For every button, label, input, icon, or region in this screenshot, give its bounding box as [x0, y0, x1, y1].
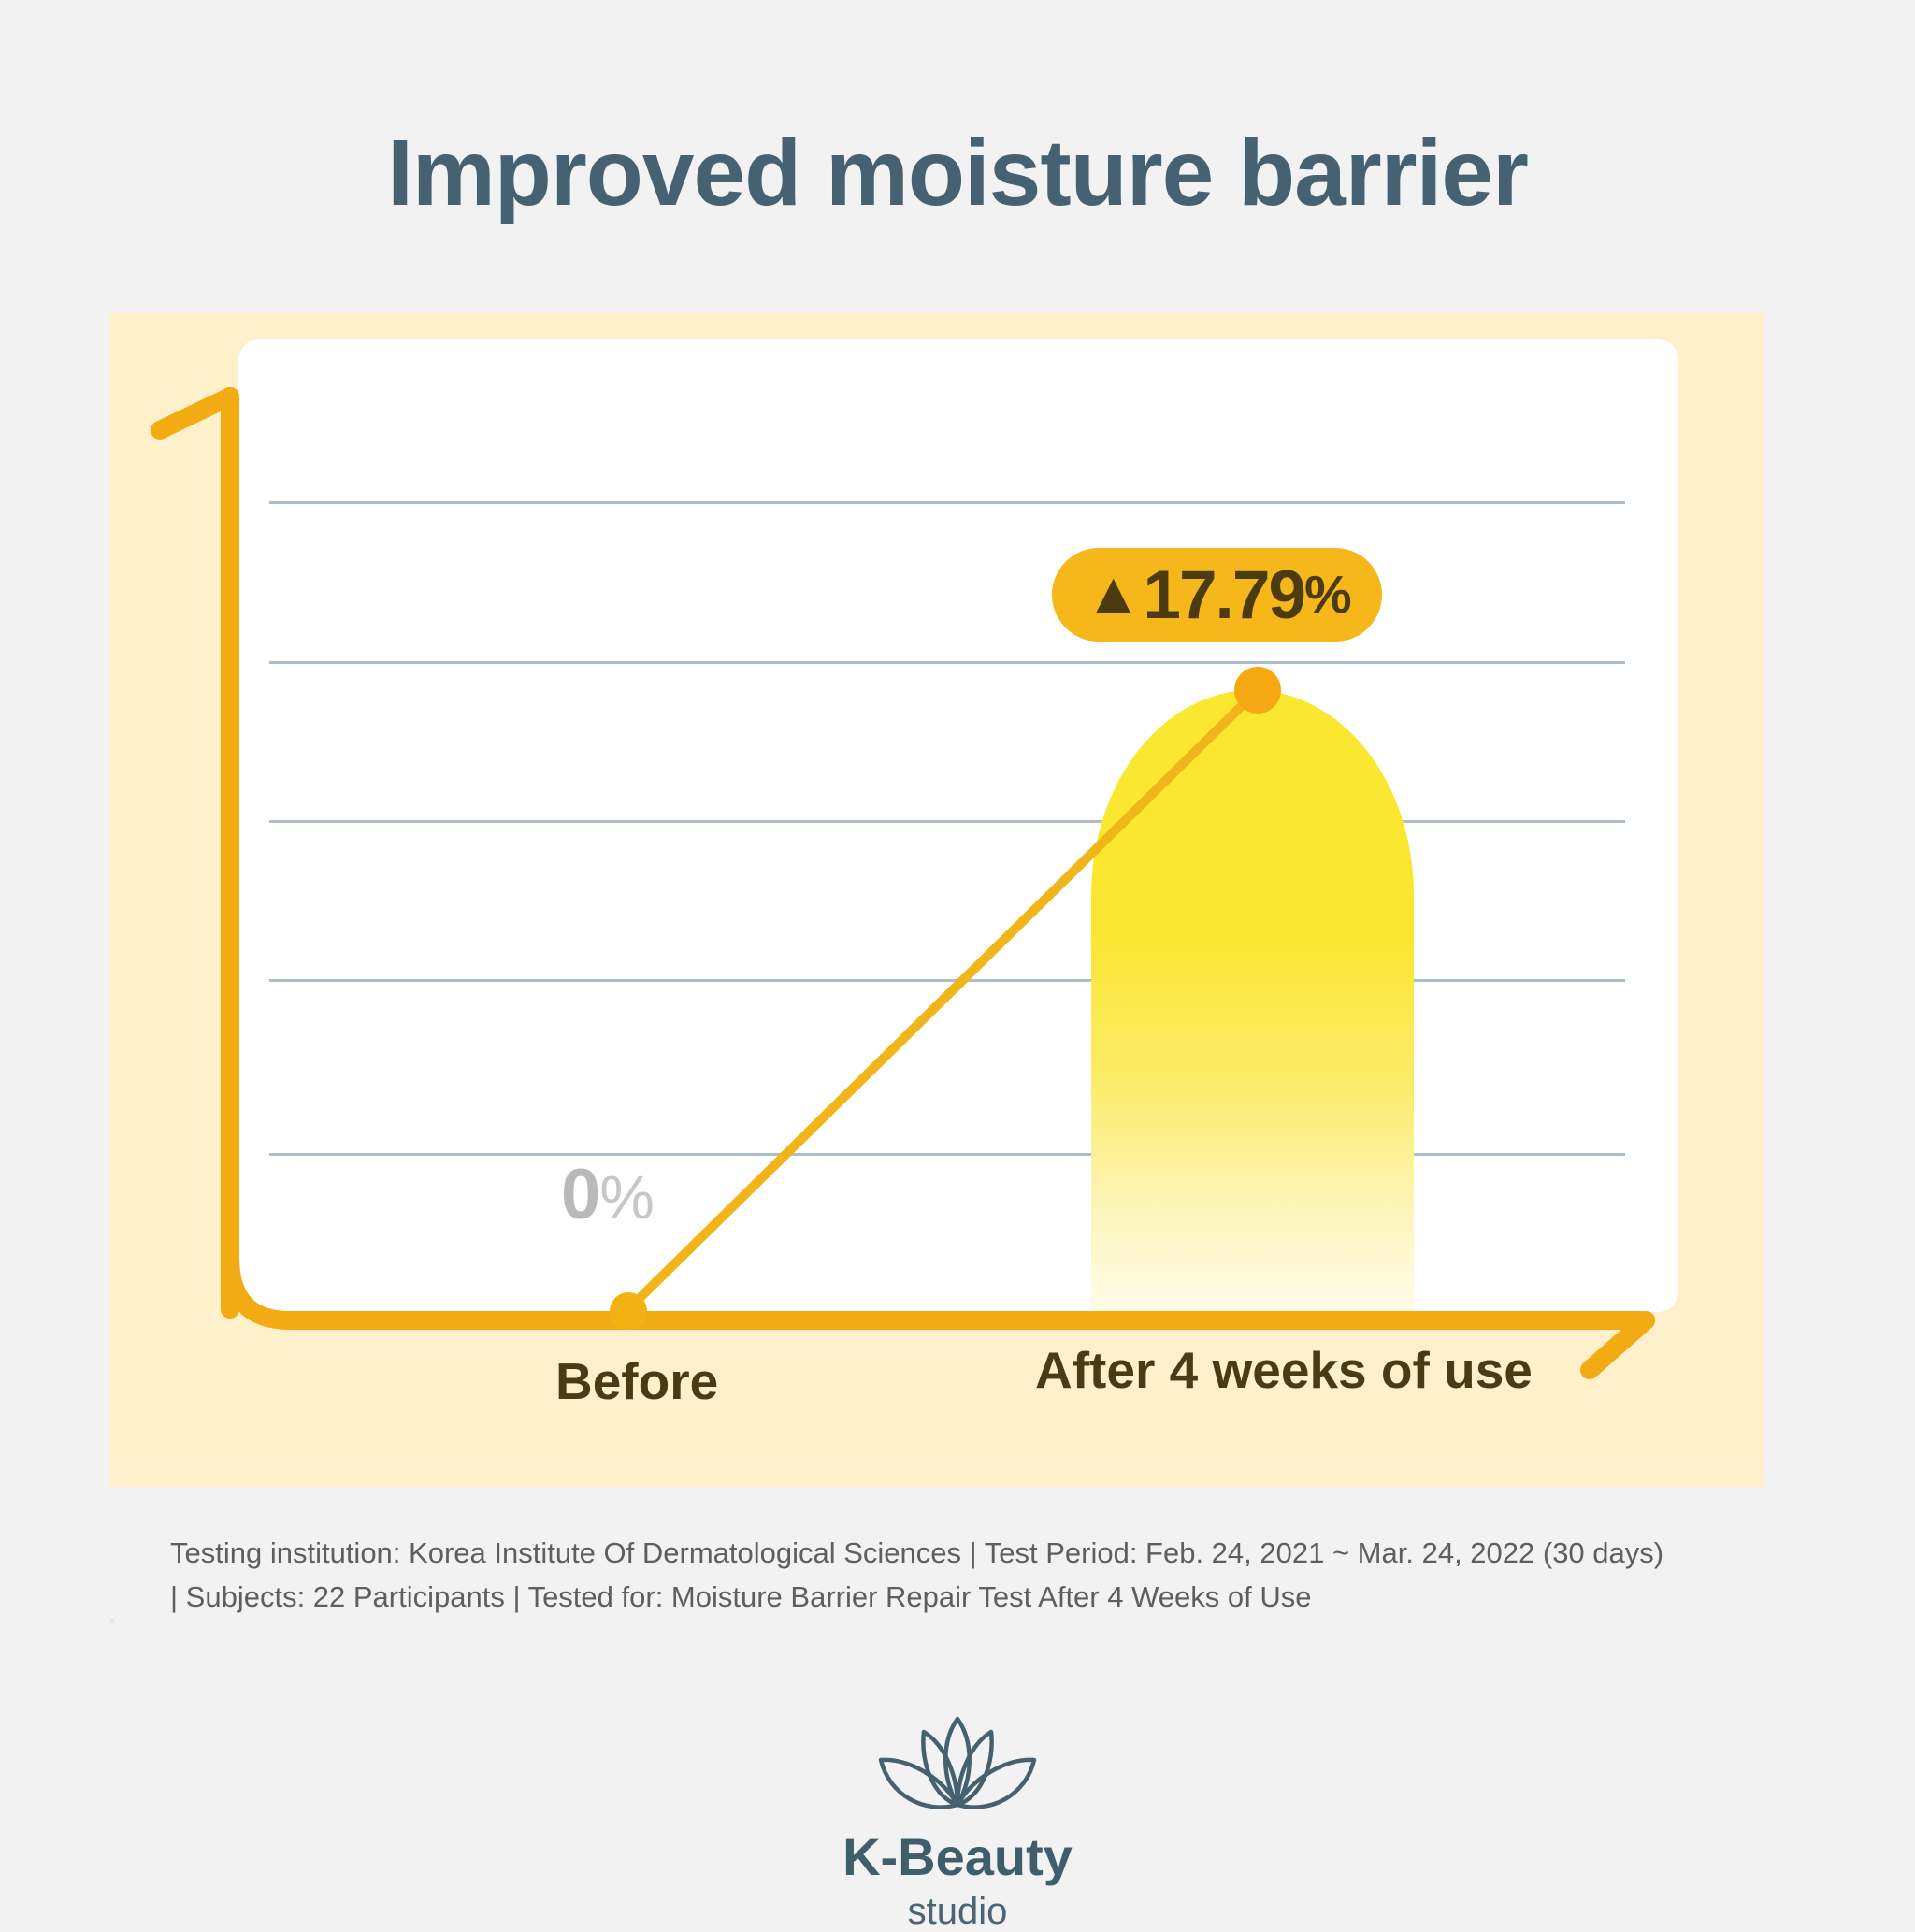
gridline-1 — [269, 1153, 1625, 1156]
page-title: Improved moisture barrier — [0, 122, 1915, 224]
baseline-percent-sign: % — [599, 1162, 654, 1232]
footnote-line-1: Testing institution: Korea Institute Of … — [170, 1532, 1745, 1576]
gridline-3 — [269, 820, 1625, 823]
badge-percent-sign: % — [1304, 569, 1350, 622]
bar-after-4-weeks — [1091, 690, 1414, 1312]
x-axis-label-after: After 4 weeks of use — [1035, 1345, 1533, 1396]
increase-badge: ▲17.79% — [1052, 548, 1382, 642]
gridline-5 — [269, 501, 1625, 504]
footnote: Testing institution: Korea Institute Of … — [110, 1492, 1805, 1619]
chart-card — [238, 339, 1678, 1312]
gridline-4 — [269, 661, 1625, 664]
logo-subtitle: studio — [908, 1893, 1008, 1930]
baseline-label: 0% — [561, 1160, 654, 1231]
gridline-2 — [269, 979, 1625, 982]
brand-logo: K-Beauty studio — [0, 1711, 1915, 1930]
up-triangle-icon: ▲ — [1084, 563, 1141, 623]
x-axis-label-before: Before — [555, 1356, 718, 1407]
badge-value: 17.79 — [1143, 561, 1304, 629]
footnote-line-2: | Subjects: 22 Participants | Tested for… — [170, 1576, 1745, 1620]
lotus-icon — [869, 1711, 1046, 1824]
baseline-value: 0 — [561, 1155, 599, 1234]
logo-name: K-Beauty — [842, 1831, 1073, 1883]
